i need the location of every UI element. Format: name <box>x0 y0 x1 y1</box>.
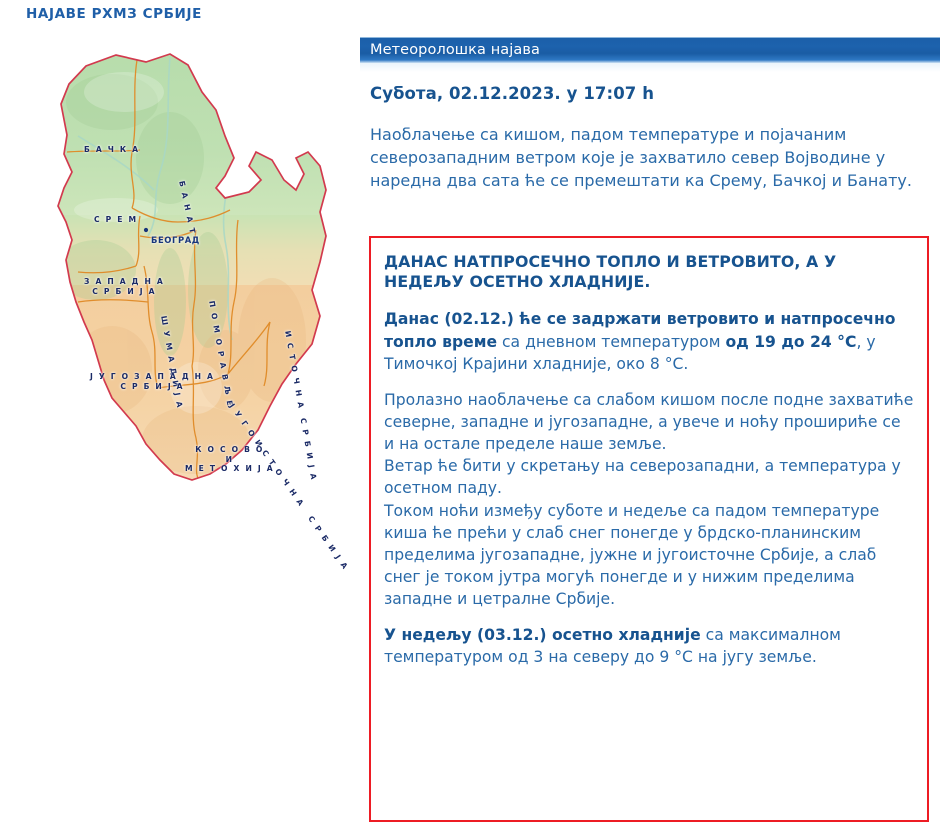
serbia-map[interactable]: Б А Ч К АБ А Н А ТС Р Е МБЕОГРАДЗ А П А … <box>20 40 350 495</box>
serbia-map-svg <box>20 40 350 495</box>
belgrade-marker <box>144 228 148 232</box>
titlebar-shadow <box>360 63 940 72</box>
map-column: НАЈАВЕ РХМЗ СРБИЈЕ <box>0 0 360 826</box>
forecast-panel: Метеоролошка најава Субота, 02.12.2023. … <box>360 0 940 826</box>
warning-paragraph-4: Током ноћи између суботе и недеље са пад… <box>384 500 914 611</box>
warning-headline: ДАНАС НАТПРОСЕЧНО ТОПЛО И ВЕТРОВИТО, А У… <box>384 252 914 292</box>
map-terrain <box>20 40 350 495</box>
warning-paragraph-5: У недељу (03.12.) осетно хладније са мак… <box>384 624 914 668</box>
panel-title: Метеоролошка најава <box>370 42 540 58</box>
p1-text-1: са дневном температуром <box>497 333 725 351</box>
p1-bold-2: од 19 до 24 °C <box>725 333 856 351</box>
issue-timestamp: Субота, 02.12.2023. у 17:07 h <box>370 84 654 103</box>
warning-paragraph-2: Пролазно наоблачење са слабом кишом посл… <box>384 389 914 455</box>
screenshot-root: НАЈАВЕ РХМЗ СРБИЈЕ <box>0 0 940 826</box>
intro-paragraph: Наоблачење са кишом, падом температуре и… <box>370 123 940 192</box>
warning-box: ДАНАС НАТПРОСЕЧНО ТОПЛО И ВЕТРОВИТО, А У… <box>369 236 929 822</box>
warning-paragraph-3: Ветар ће бити у скретању на северозападн… <box>384 455 914 499</box>
panel-titlebar: Метеоролошка најава <box>360 37 940 63</box>
page-title: НАЈАВЕ РХМЗ СРБИЈЕ <box>26 6 202 22</box>
warning-paragraph-1: Данас (02.12.) ће се задржати ветровито … <box>384 308 914 374</box>
p5-bold-1: У недељу (03.12.) осетно хладније <box>384 626 701 644</box>
